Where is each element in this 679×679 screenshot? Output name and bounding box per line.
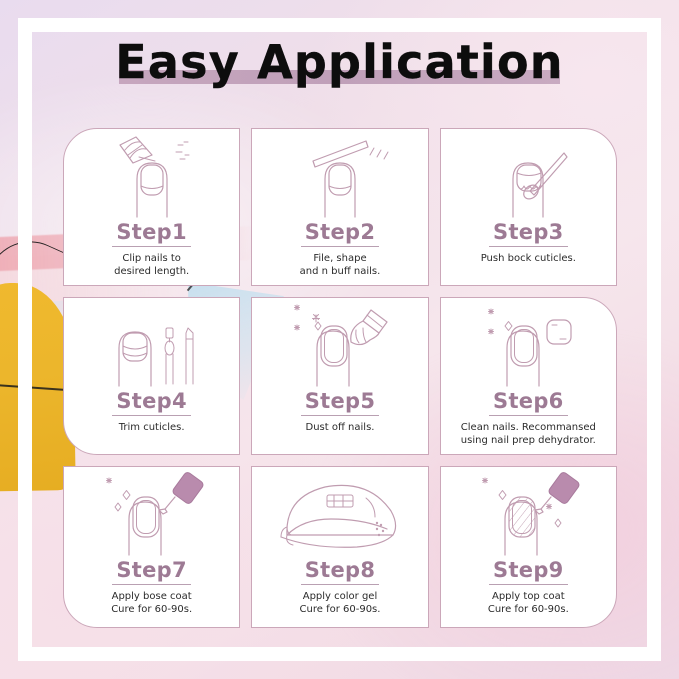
step-label: Step5 — [301, 389, 380, 416]
step-label: Step6 — [489, 389, 568, 416]
uv-lamp-icon — [252, 473, 427, 557]
step-label: Step4 — [112, 389, 191, 416]
step-label: Step3 — [489, 220, 568, 247]
easy-application-poster: Easy Application — [0, 0, 679, 679]
step-description: Apply top coat Cure for 60-90s. — [480, 590, 577, 616]
step-description: Clean nails. Recommansed using nail prep… — [453, 421, 604, 447]
step-card-4[interactable]: Step4 Trim cuticles. — [63, 297, 240, 455]
step-description: File, shape and n buff nails. — [292, 252, 389, 278]
step-label: Step8 — [301, 558, 380, 585]
step-card-5[interactable]: Step5 Dust off nails. — [251, 297, 428, 455]
nail-cleanser-icon — [441, 304, 616, 388]
dust-brush-icon — [252, 304, 427, 388]
step-description: Apply color gel Cure for 60-90s. — [292, 590, 389, 616]
page-title: Easy Application — [0, 32, 679, 92]
step-card-6[interactable]: Step6 Clean nails. Recommansed using nai… — [440, 297, 617, 455]
step-card-7[interactable]: Step7 Apply bose coat Cure for 60-90s. — [63, 466, 240, 628]
step-card-2[interactable]: Step2 File, shape and n buff nails. — [251, 128, 428, 286]
step-card-3[interactable]: Step3 Push bock cuticles. — [440, 128, 617, 286]
step-label: Step9 — [489, 558, 568, 585]
cuticle-pusher-icon — [441, 135, 616, 219]
step-description: Trim cuticles. — [111, 421, 193, 434]
step-label: Step2 — [301, 220, 380, 247]
step-card-9[interactable]: Step9 Apply top coat Cure for 60-90s. — [440, 466, 617, 628]
step-label: Step7 — [112, 558, 191, 585]
step-description: Apply bose coat Cure for 60-90s. — [103, 590, 200, 616]
page-title-block: Easy Application — [0, 32, 679, 94]
step-label: Step1 — [112, 220, 191, 247]
step-description: Dust off nails. — [298, 421, 383, 434]
step-description: Clip nails to desired length. — [106, 252, 197, 278]
step-card-1[interactable]: Step1 Clip nails to desired length. — [63, 128, 240, 286]
poster-content: Easy Application — [0, 0, 679, 679]
nail-clipper-icon — [64, 135, 239, 219]
step-card-8[interactable]: Step8 Apply color gel Cure for 60-90s. — [251, 466, 428, 628]
nail-file-icon — [252, 135, 427, 219]
cuticle-trimmer-icon — [64, 304, 239, 388]
base-coat-bottle-icon — [64, 473, 239, 557]
steps-grid: Step1 Clip nails to desired length. — [63, 128, 617, 628]
step-description: Push bock cuticles. — [473, 252, 584, 265]
top-coat-bottle-icon — [441, 473, 616, 557]
